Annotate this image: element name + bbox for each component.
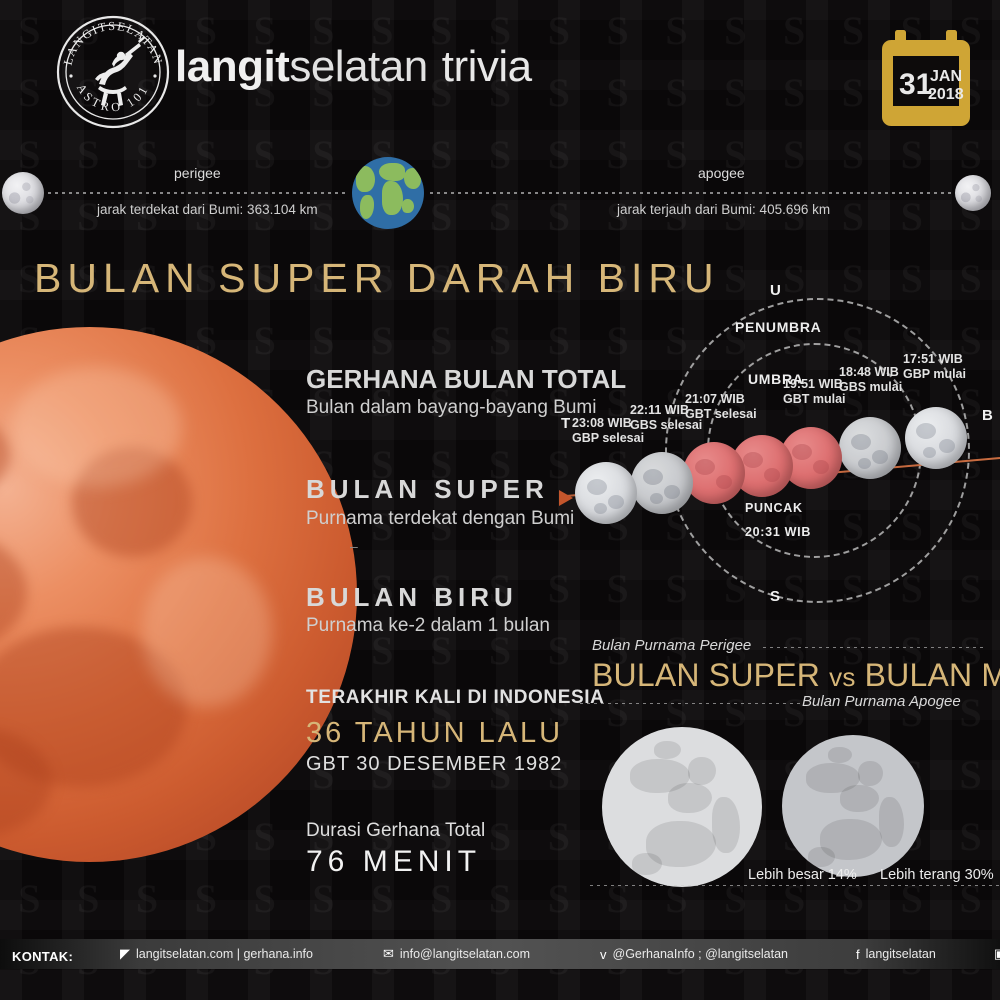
section-divider-dash: – [350, 538, 358, 554]
watermark-letter: S [118, 868, 177, 930]
apogee-detail: jarak terjauh dari Bumi: 405.696 km [617, 202, 830, 217]
langitselatan-seal-logo: LANGITSELATAN ASTRO 101 [55, 14, 171, 130]
watermark-letter: S [824, 992, 883, 1000]
super-vs-mini-title: BULAN SUPER vs BULAN MINI [592, 657, 1000, 694]
calendar-icon: 31 JAN 2018 31 JAN 2018 [880, 28, 972, 128]
contact-item-rss[interactable]: ◤langitselatan.com | gerhana.info [120, 946, 313, 962]
last-time-label: TERAKHIR KALI DI INDONESIA [306, 687, 605, 709]
phase-time-gbs-mulai: 18:48 WIB [839, 365, 902, 380]
watermark-letter: S [353, 310, 412, 372]
brand-trivia: trivia [442, 42, 532, 91]
moon-phase-gbt-selesai [683, 442, 745, 504]
contact-item-twitter[interactable]: ᴠ@GerhanaInfo ; @langitselatan [600, 947, 788, 962]
header: LANGITSELATAN ASTRO 101 [0, 0, 1000, 148]
apogee-caption-rule [580, 703, 800, 704]
brand-title: langitselatantrivia [175, 42, 532, 92]
infographic-canvas: SSSSSSSSSSSSSSSSSSSSSSSSSSSSSSSSSSSSSSSS… [0, 0, 1000, 1000]
watermark-letter: S [412, 992, 471, 1000]
duration-value: 76 MENIT [306, 845, 481, 879]
title-bulan-super: BULAN SUPER [592, 657, 820, 693]
perigee-caption-rule [763, 647, 985, 648]
perigee-apogee-band: perigee jarak terdekat dari Bumi: 363.10… [0, 150, 1000, 240]
brand-selatan: selatan [289, 42, 427, 91]
phase-label-gbs-mulai: 18:48 WIB GBS mulai [839, 365, 902, 395]
kontak-label: KONTAK: [12, 949, 73, 964]
phase-event-gbp-mulai: GBP mulai [903, 367, 966, 382]
watermark-letter: S [647, 992, 706, 1000]
fact-sub-2: Purnama terdekat dengan Bumi [306, 508, 574, 530]
watermark-letter: S [235, 868, 294, 930]
phase-time-gbt-selesai: 21:07 WIB [685, 392, 757, 407]
fact-sub-3: Purnama ke-2 dalam 1 bulan [306, 615, 550, 637]
facebook-icon: f [856, 947, 860, 962]
last-time-value: 36 TAHUN LALU [306, 717, 563, 750]
phase-label-gbt-selesai: 21:07 WIB GBT selesai [685, 392, 757, 422]
svg-text:LANGITSELATAN: LANGITSELATAN [61, 19, 166, 67]
apogee-moon-icon [955, 175, 991, 211]
phase-event-gbt-mulai: GBT mulai [783, 392, 846, 407]
rss-icon: ◤ [120, 946, 130, 962]
watermark-letter: S [0, 868, 59, 930]
duration-label: Durasi Gerhana Total [306, 820, 485, 842]
penumbra-label: PENUMBRA [735, 319, 822, 335]
note-lebih-besar: Lebih besar 14% [748, 867, 857, 883]
title-vs: vs [829, 662, 855, 692]
twitter-icon: ᴠ [600, 947, 607, 962]
contact-item-instagram[interactable]: ▣langitselatanmedia [994, 946, 1000, 962]
perigee-label: perigee [174, 165, 221, 181]
perigee-dotted-line [48, 192, 348, 194]
notes-rule [590, 885, 1000, 886]
watermark-letter: S [294, 992, 353, 1000]
watermark-letter: S [118, 992, 177, 1000]
phase-label-gbt-mulai: 19:51 WIB GBT mulai [783, 377, 846, 407]
eclipse-path-diagram: U S T B PENUMBRA UMBRA PUNCAK 20:31 WIB … [545, 285, 1000, 615]
super-vs-mini-section: Bulan Purnama Perigee BULAN SUPER vs BUL… [570, 635, 1000, 900]
phase-time-gbp-mulai: 17:51 WIB [903, 352, 966, 367]
watermark-letter: S [59, 868, 118, 930]
phase-event-gbp-selesai: GBP selesai [572, 431, 644, 446]
apogee-caption: Bulan Purnama Apogee [802, 693, 961, 710]
watermark-letter: S [235, 310, 294, 372]
watermark-letter: S [176, 992, 235, 1000]
brand-langit: langit [175, 42, 289, 91]
super-moon-illustration [602, 727, 762, 887]
apogee-label: apogee [698, 165, 745, 181]
moon-phase-gbp-mulai [905, 407, 967, 469]
phase-event-gbt-selesai: GBT selesai [685, 407, 757, 422]
svg-text:JAN: JAN [930, 68, 962, 85]
fact-heading-3: BULAN BIRU [306, 582, 518, 613]
moon-phase-gbp-selesai [575, 462, 637, 524]
watermark-letter: S [471, 992, 530, 1000]
moon-phase-gbs-selesai [631, 452, 693, 514]
path-arrow-icon [559, 490, 573, 506]
phase-label-gbp-mulai: 17:51 WIB GBP mulai [903, 352, 966, 382]
last-time-detail: GBT 30 DESEMBER 1982 [306, 753, 562, 776]
note-lebih-terang: Lebih terang 30% [880, 867, 994, 883]
contact-bar: ◤langitselatan.com | gerhana.info✉info@l… [0, 939, 1000, 969]
watermark-letter: S [765, 992, 824, 1000]
fact-heading-2: BULAN SUPER [306, 474, 549, 505]
mini-moon-illustration [782, 735, 924, 877]
watermark-letter: S [176, 868, 235, 930]
perigee-moon-icon [2, 172, 44, 214]
email-icon: ✉ [383, 946, 394, 962]
perigee-detail: jarak terdekat dari Bumi: 363.104 km [97, 202, 318, 217]
contact-text: info@langitselatan.com [400, 947, 530, 961]
watermark-letter: S [588, 992, 647, 1000]
watermark-letter: S [471, 310, 530, 372]
watermark-letter: S [0, 992, 59, 1000]
svg-text:2018: 2018 [928, 86, 964, 103]
puncak-time: 20:31 WIB [745, 525, 811, 539]
axis-label-u: U [770, 282, 781, 299]
watermark-letter: S [529, 992, 588, 1000]
title-bulan-mini: BULAN MINI [865, 657, 1000, 693]
watermark-letter: S [353, 992, 412, 1000]
apogee-dotted-line [430, 192, 954, 194]
axis-label-b: B [982, 407, 993, 424]
watermark-letter: S [706, 992, 765, 1000]
puncak-label: PUNCAK [745, 501, 803, 515]
axis-label-t: T [561, 415, 570, 432]
phase-event-gbs-mulai: GBS mulai [839, 380, 902, 395]
moon-phase-gbs-mulai [839, 417, 901, 479]
axis-label-s: S [770, 588, 780, 605]
phase-time-gbt-mulai: 19:51 WIB [783, 377, 846, 392]
contact-item-facebook[interactable]: flangitselatan [856, 947, 936, 962]
watermark-letter: S [235, 992, 294, 1000]
blood-moon-image [0, 327, 357, 862]
perigee-caption: Bulan Purnama Perigee [592, 637, 751, 654]
watermark-letter: S [59, 992, 118, 1000]
watermark-letter: S [235, 806, 294, 868]
watermark-letter: S [882, 992, 941, 1000]
contact-text: langitselatan.com | gerhana.info [136, 947, 313, 961]
watermark-letter: S [412, 310, 471, 372]
earth-globe-icon [352, 157, 424, 229]
contact-text: @GerhanaInfo ; @langitselatan [613, 947, 788, 961]
contact-text: langitselatan [866, 947, 936, 961]
contact-item-email[interactable]: ✉info@langitselatan.com [383, 946, 530, 962]
watermark-letter: S [294, 310, 353, 372]
instagram-icon: ▣ [994, 946, 1000, 962]
watermark-letter: S [941, 992, 1000, 1000]
